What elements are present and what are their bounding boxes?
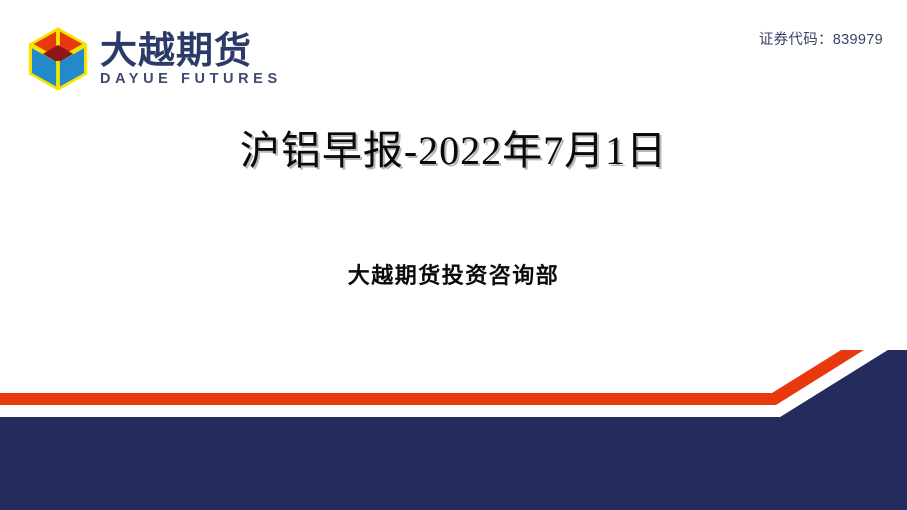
brand-wordmark: 大越期货 DAYUE FUTURES [100, 30, 282, 89]
brand-name-cn: 大越期货 [100, 32, 282, 70]
footer-decoration [0, 350, 907, 510]
brand-name-en: DAYUE FUTURES [100, 72, 282, 88]
footer-white-divider [0, 350, 907, 417]
page-subtitle: 大越期货投资咨询部 [0, 258, 907, 290]
brand-lockup: 大越期货 DAYUE FUTURES [26, 26, 282, 92]
dayue-cube-logo-icon [26, 26, 90, 92]
stock-code-label: 证券代码：839979 [759, 28, 883, 49]
page-title: 沪铝早报-2022年7月1日 [0, 126, 907, 176]
footer-accent-stripe [0, 350, 907, 405]
title-slide: 大越期货 DAYUE FUTURES 证券代码：839979 沪铝早报-2022… [0, 0, 907, 510]
title-block: 沪铝早报-2022年7月1日 [0, 126, 907, 176]
footer-navy-band [0, 350, 907, 510]
